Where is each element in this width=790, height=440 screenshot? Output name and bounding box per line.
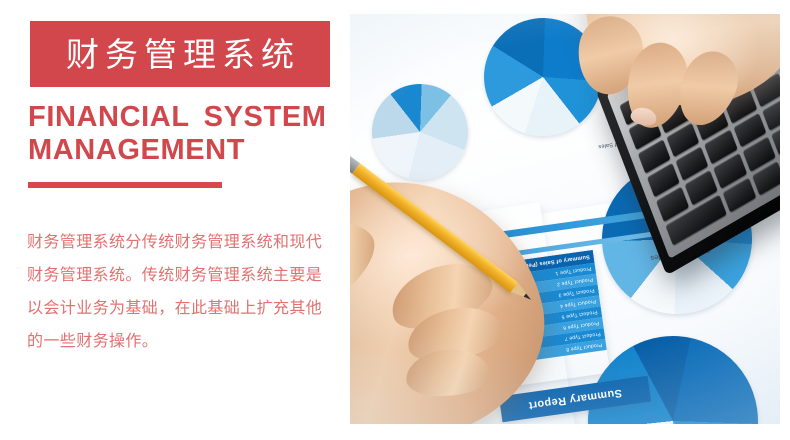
heading-divider-bar: [28, 182, 222, 188]
promo-banner: 财务管理系统 FINANCIALSYSTEM MANAGEMENT 财务管理系统…: [0, 0, 790, 440]
title-chip-label: 财务管理系统: [60, 38, 300, 71]
left-text-panel: 财务管理系统 FINANCIALSYSTEM MANAGEMENT 财务管理系统…: [0, 0, 350, 440]
body-copy: 财务管理系统分传统财务管理系统和现代财务管理系统。传统财务管理系统主要是以会计业…: [27, 225, 329, 357]
subtitle-heading: FINANCIALSYSTEM MANAGEMENT: [28, 101, 338, 167]
hero-photo: Summary of Sales Summary of Sales Consol…: [350, 14, 780, 424]
subtitle-word-management: MANAGEMENT: [28, 134, 338, 167]
subtitle-word-system: SYSTEM: [204, 101, 327, 133]
thumb: [350, 205, 389, 331]
photo-desk-background: Summary of Sales Summary of Sales Consol…: [350, 14, 780, 424]
title-chip: 财务管理系统: [30, 21, 330, 87]
subtitle-word-financial: FINANCIAL: [28, 101, 190, 133]
